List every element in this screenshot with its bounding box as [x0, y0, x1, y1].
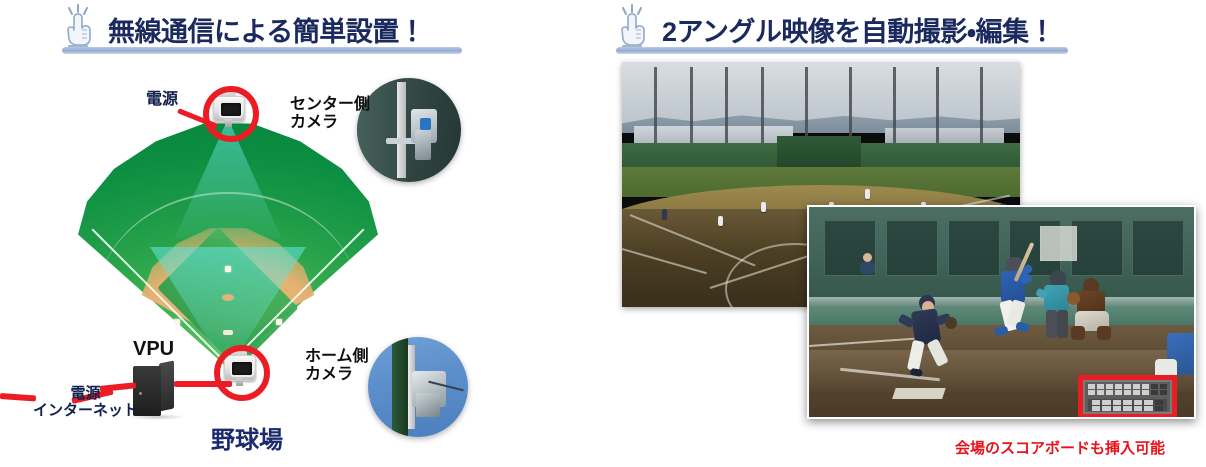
- scoreboard-cell: [1113, 406, 1122, 411]
- label-center-camera-line2: カメラ: [290, 114, 338, 131]
- scoreboard-lower-band: [1088, 399, 1166, 411]
- second-base: [225, 266, 231, 272]
- cable-power-internet-stub: [0, 393, 36, 401]
- batter-video-window: [948, 220, 1000, 277]
- catcher-shin-guard-right: [1097, 326, 1111, 340]
- scoreboard-row: [1088, 384, 1168, 389]
- scoreboard-cell: [1155, 406, 1164, 411]
- scoreboard-cell: [1144, 400, 1153, 405]
- home-photo-green-pole: [392, 337, 408, 437]
- center-photo-camera-body: [415, 130, 431, 160]
- label-home-camera: ホーム側 カメラ: [305, 348, 369, 384]
- home-photo-camera-body: [416, 393, 440, 417]
- batter-video-sign: [1040, 226, 1077, 262]
- scoreboard-cell: [1092, 400, 1101, 405]
- vpu-led-indicator: [139, 392, 142, 395]
- label-power-internet-line1: 電源: [71, 385, 101, 402]
- scoreboard-cell: [1097, 390, 1104, 395]
- home-camera-photo: [368, 337, 468, 437]
- label-center-camera-line1: センター側: [290, 96, 370, 113]
- first-base: [276, 319, 282, 325]
- pointing-hand-icon: [612, 4, 652, 50]
- center-photo-blue-part: [420, 118, 431, 130]
- right-heading-text: 2アングル映像を自動撮影・編集！: [662, 19, 1055, 50]
- scoreboard-cell: [1115, 390, 1122, 395]
- baseball-field-diagram: [78, 116, 378, 368]
- right-heading: 2アングル映像を自動撮影・編集！: [612, 4, 1055, 50]
- wide-video-net-pole: [761, 67, 764, 145]
- scoreboard-cell: [1144, 406, 1153, 411]
- umpire-mask: [1050, 270, 1066, 286]
- scoreboard-cell: [1134, 406, 1143, 411]
- left-heading: 無線通信による簡単設置！: [58, 4, 425, 50]
- wide-video-net-pole: [849, 67, 852, 145]
- batter-video-window: [1071, 220, 1123, 277]
- scoreboard-cell: [1133, 384, 1140, 389]
- scoreboard-cell: [1151, 384, 1158, 389]
- scoreboard-row: [1092, 406, 1164, 411]
- label-vpu: VPU: [133, 338, 174, 360]
- scoreboard-cell: [1115, 384, 1122, 389]
- batter-video-home-plate: [892, 388, 945, 399]
- wide-video-net-pole: [725, 67, 728, 145]
- scoreboard-cell: [1124, 384, 1131, 389]
- wide-video-player: [662, 209, 667, 219]
- wide-video-net-pole: [893, 67, 896, 145]
- scoreboard-cell: [1092, 406, 1101, 411]
- scoreboard-cell: [1106, 390, 1113, 395]
- home-plate: [223, 330, 233, 335]
- label-baseball-stadium: 野球場: [211, 420, 283, 455]
- label-power-internet: 電源 インターネット: [33, 386, 138, 420]
- left-heading-rule: [62, 47, 462, 54]
- pitchers-mound: [222, 294, 234, 301]
- third-base: [174, 319, 180, 325]
- right-heading-rule: [616, 47, 1068, 54]
- wide-video-player: [761, 202, 766, 212]
- scoreboard-cell: [1088, 384, 1095, 389]
- pointing-hand-icon: [58, 4, 98, 50]
- umpire-leg-right: [1057, 310, 1068, 338]
- scoreboard-cell: [1106, 384, 1113, 389]
- right-panel: 2アングル映像を自動撮影・編集！: [600, 0, 1206, 467]
- vpu-side-panel: [159, 360, 174, 411]
- scoreboard-cell: [1123, 406, 1132, 411]
- scoreboard-cell: [1160, 384, 1167, 389]
- batter-video-window: [886, 220, 938, 277]
- scoreboard-cell: [1133, 390, 1140, 395]
- catcher-mitt: [1067, 292, 1080, 305]
- scoreboard-cell: [1160, 390, 1167, 395]
- wide-video-player: [865, 189, 870, 199]
- wide-video-player: [718, 216, 723, 226]
- catcher-shin-guard-left: [1071, 326, 1085, 340]
- scoreboard-cell: [1151, 390, 1158, 395]
- scoreboard-cell: [1134, 400, 1143, 405]
- umpire-leg-left: [1046, 310, 1057, 338]
- home-camera-highlight-ring: [214, 345, 270, 401]
- label-power-internet-line2: インターネット: [33, 402, 138, 419]
- left-heading-text: 無線通信による簡単設置！: [108, 19, 425, 50]
- scoreboard-panel: [1085, 382, 1170, 412]
- label-home-camera-line2: カメラ: [305, 366, 353, 383]
- scoreboard-overlay[interactable]: [1078, 375, 1177, 419]
- cable-vpu-to-home-camera: [174, 381, 232, 387]
- scoreboard-cell: [1102, 406, 1111, 411]
- home-angle-batter-video[interactable]: [807, 205, 1196, 419]
- center-camera-highlight-ring: [203, 86, 259, 142]
- scoreboard-cell: [1142, 390, 1149, 395]
- scoreboard-cell: [1142, 384, 1149, 389]
- umpire-shirt: [1044, 285, 1069, 311]
- scoreboard-cell: [1124, 390, 1131, 395]
- scoreboard-cell: [1155, 400, 1164, 405]
- wide-video-net-pole: [654, 67, 657, 145]
- label-home-camera-line1: ホーム側: [305, 348, 369, 365]
- spectator-torso: [860, 262, 875, 274]
- scoreboard-cell: [1102, 400, 1111, 405]
- wide-video-net-pole: [980, 67, 983, 145]
- scoreboard-row: [1092, 400, 1164, 405]
- left-panel: 無線通信による簡単設置！: [0, 0, 600, 467]
- scoreboard-cell: [1113, 400, 1122, 405]
- label-center-camera: センター側 カメラ: [290, 96, 370, 132]
- scoreboard-caption: 会場のスコアボードも挿入可能: [955, 437, 1165, 458]
- vpu-device: [133, 362, 175, 416]
- scoreboard-row: [1088, 390, 1168, 395]
- center-photo-pole: [397, 82, 406, 178]
- wide-video-net-pole: [936, 67, 939, 145]
- wide-video-net-pole: [805, 67, 808, 145]
- scoreboard-cell: [1097, 384, 1104, 389]
- scoreboard-cell: [1088, 390, 1095, 395]
- wide-video-net-pole: [690, 67, 693, 145]
- scoreboard-cell: [1123, 400, 1132, 405]
- batter-video-window: [1132, 220, 1184, 277]
- label-power-center: 電源: [146, 91, 178, 109]
- wide-video-batters-eye: [777, 136, 861, 170]
- center-camera-photo: [357, 78, 461, 182]
